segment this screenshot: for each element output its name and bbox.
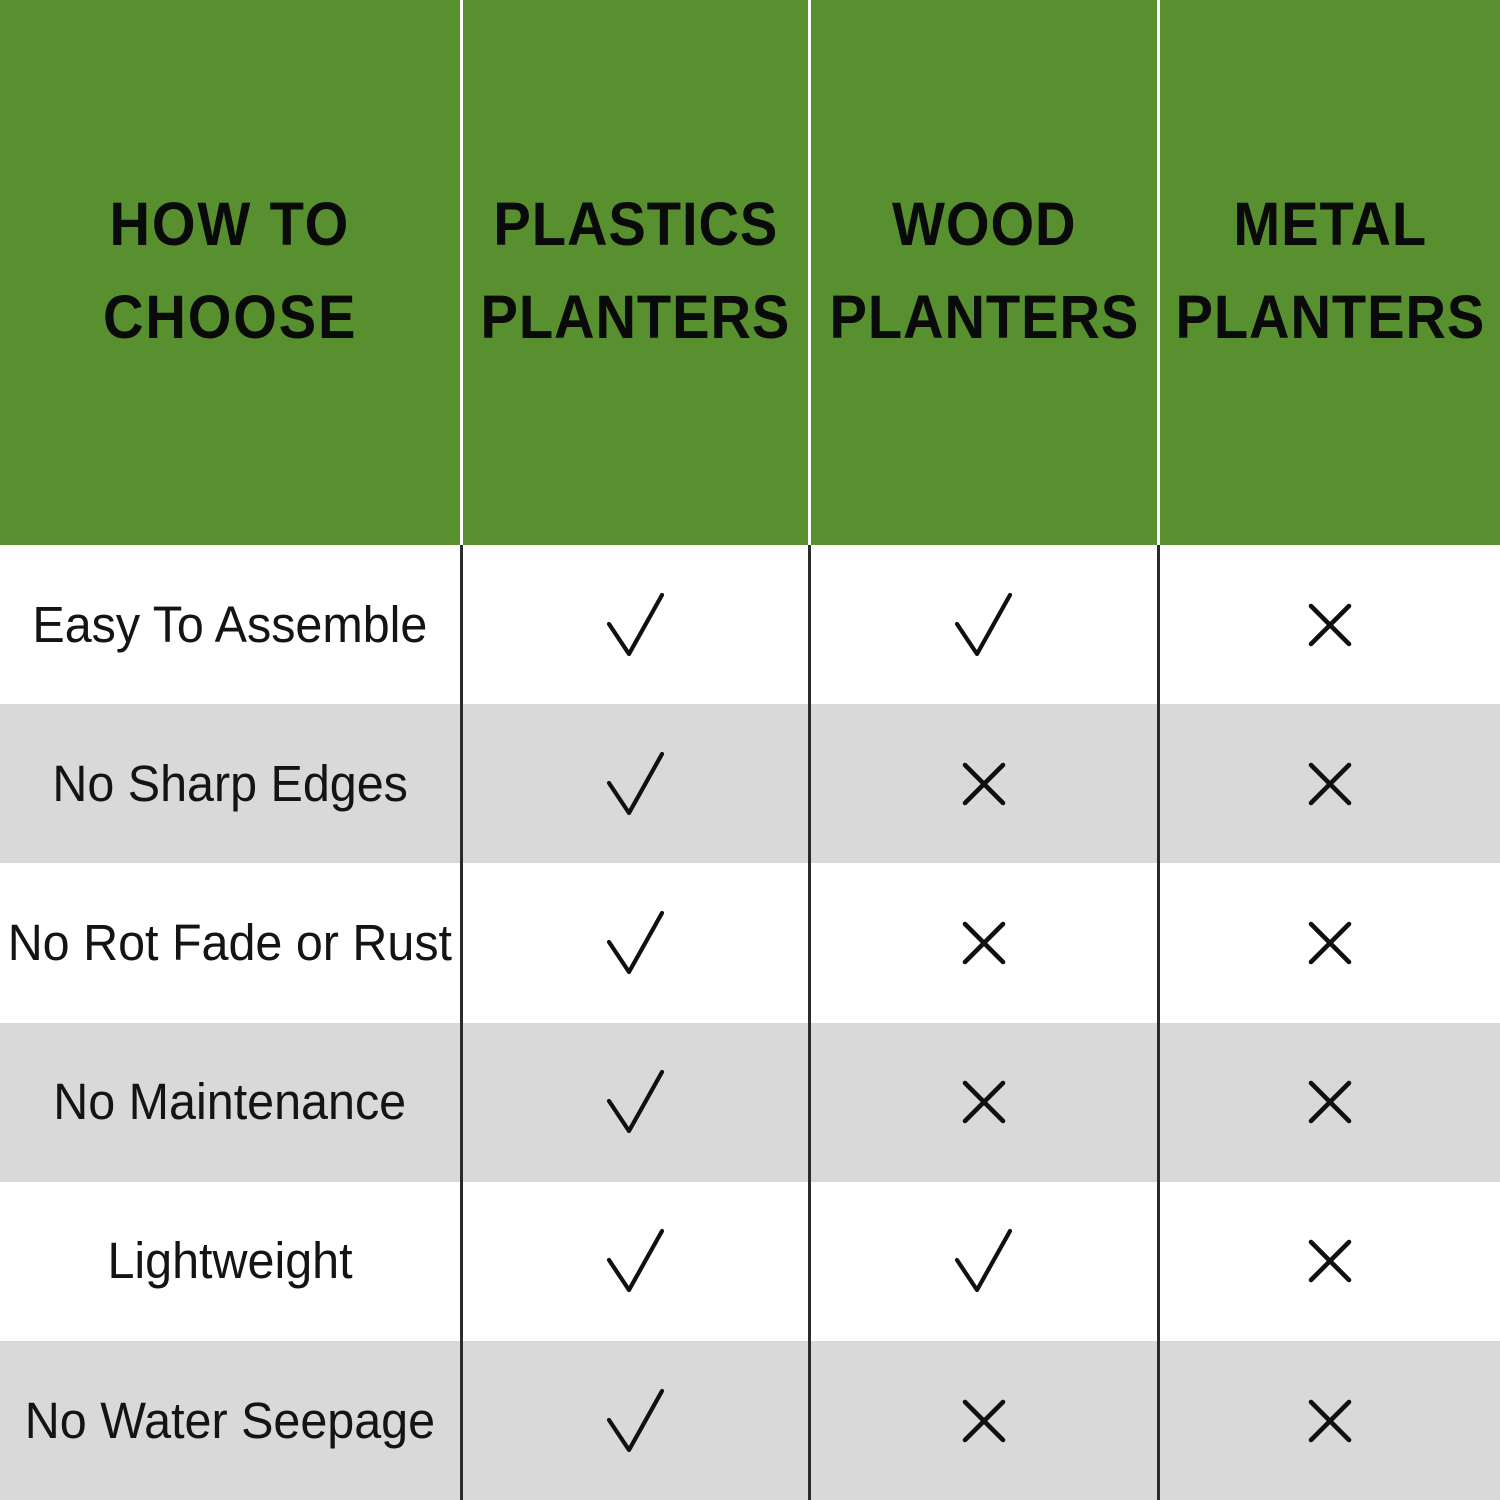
metal-cell xyxy=(1157,863,1500,1022)
row-feature-label: No Water Seepage xyxy=(25,1392,435,1450)
table-body: Easy To AssembleNo Sharp EdgesNo Rot Fad… xyxy=(0,545,1500,1500)
wood-cell xyxy=(808,1023,1157,1182)
check-icon xyxy=(601,906,671,980)
column-header-how-to-choose: HOW TO CHOOSE xyxy=(0,0,460,545)
column-header-line-1: WOOD xyxy=(892,178,1076,271)
row-feature-label: Lightweight xyxy=(107,1232,352,1290)
cross-icon xyxy=(1300,754,1360,814)
table-header-row: HOW TO CHOOSE PLASTICS PLANTERS WOOD PLA… xyxy=(0,0,1500,545)
wood-cell xyxy=(808,704,1157,863)
column-header-line-2: PLANTERS xyxy=(481,271,791,364)
row-feature-cell: Easy To Assemble xyxy=(0,545,460,704)
metal-cell xyxy=(1157,1023,1500,1182)
table-row: No Maintenance xyxy=(0,1023,1500,1182)
cross-icon xyxy=(1300,1391,1360,1451)
column-header-metal-planters: METAL PLANTERS xyxy=(1157,0,1500,545)
plastics-cell xyxy=(460,545,808,704)
cross-icon xyxy=(1300,913,1360,973)
column-header-line-1: PLASTICS xyxy=(493,178,778,271)
wood-cell xyxy=(808,545,1157,704)
check-icon xyxy=(601,588,671,662)
check-icon xyxy=(949,1224,1019,1298)
table-row: Lightweight xyxy=(0,1182,1500,1341)
column-header-line-2: PLANTERS xyxy=(1175,271,1485,364)
row-feature-label: No Maintenance xyxy=(54,1073,407,1131)
row-feature-cell: No Rot Fade or Rust xyxy=(0,863,460,1022)
wood-cell xyxy=(808,1341,1157,1500)
cross-icon xyxy=(954,1391,1014,1451)
row-feature-label: Easy To Assemble xyxy=(33,596,428,654)
row-feature-label: No Sharp Edges xyxy=(52,755,408,813)
column-header-line-1: METAL xyxy=(1233,178,1427,271)
check-icon xyxy=(601,747,671,821)
row-feature-label: No Rot Fade or Rust xyxy=(8,914,452,972)
row-feature-cell: No Sharp Edges xyxy=(0,704,460,863)
check-icon xyxy=(601,1224,671,1298)
comparison-table: HOW TO CHOOSE PLASTICS PLANTERS WOOD PLA… xyxy=(0,0,1500,1500)
column-header-line-2: PLANTERS xyxy=(829,271,1139,364)
table-row: No Rot Fade or Rust xyxy=(0,863,1500,1022)
row-feature-cell: Lightweight xyxy=(0,1182,460,1341)
cross-icon xyxy=(954,913,1014,973)
plastics-cell xyxy=(460,1023,808,1182)
cross-icon xyxy=(1300,595,1360,655)
column-header-plastics-planters: PLASTICS PLANTERS xyxy=(460,0,808,545)
plastics-cell xyxy=(460,704,808,863)
check-icon xyxy=(601,1384,671,1458)
plastics-cell xyxy=(460,1182,808,1341)
check-icon xyxy=(601,1065,671,1139)
cross-icon xyxy=(1300,1072,1360,1132)
row-feature-cell: No Water Seepage xyxy=(0,1341,460,1500)
table-row: Easy To Assemble xyxy=(0,545,1500,704)
metal-cell xyxy=(1157,545,1500,704)
metal-cell xyxy=(1157,1341,1500,1500)
column-header-line-2: CHOOSE xyxy=(103,271,357,364)
column-header-line-1: HOW TO xyxy=(110,178,351,271)
plastics-cell xyxy=(460,863,808,1022)
column-header-wood-planters: WOOD PLANTERS xyxy=(808,0,1157,545)
table-row: No Water Seepage xyxy=(0,1341,1500,1500)
metal-cell xyxy=(1157,1182,1500,1341)
check-icon xyxy=(949,588,1019,662)
wood-cell xyxy=(808,863,1157,1022)
row-feature-cell: No Maintenance xyxy=(0,1023,460,1182)
table-row: No Sharp Edges xyxy=(0,704,1500,863)
plastics-cell xyxy=(460,1341,808,1500)
metal-cell xyxy=(1157,704,1500,863)
cross-icon xyxy=(954,1072,1014,1132)
cross-icon xyxy=(1300,1231,1360,1291)
cross-icon xyxy=(954,754,1014,814)
wood-cell xyxy=(808,1182,1157,1341)
